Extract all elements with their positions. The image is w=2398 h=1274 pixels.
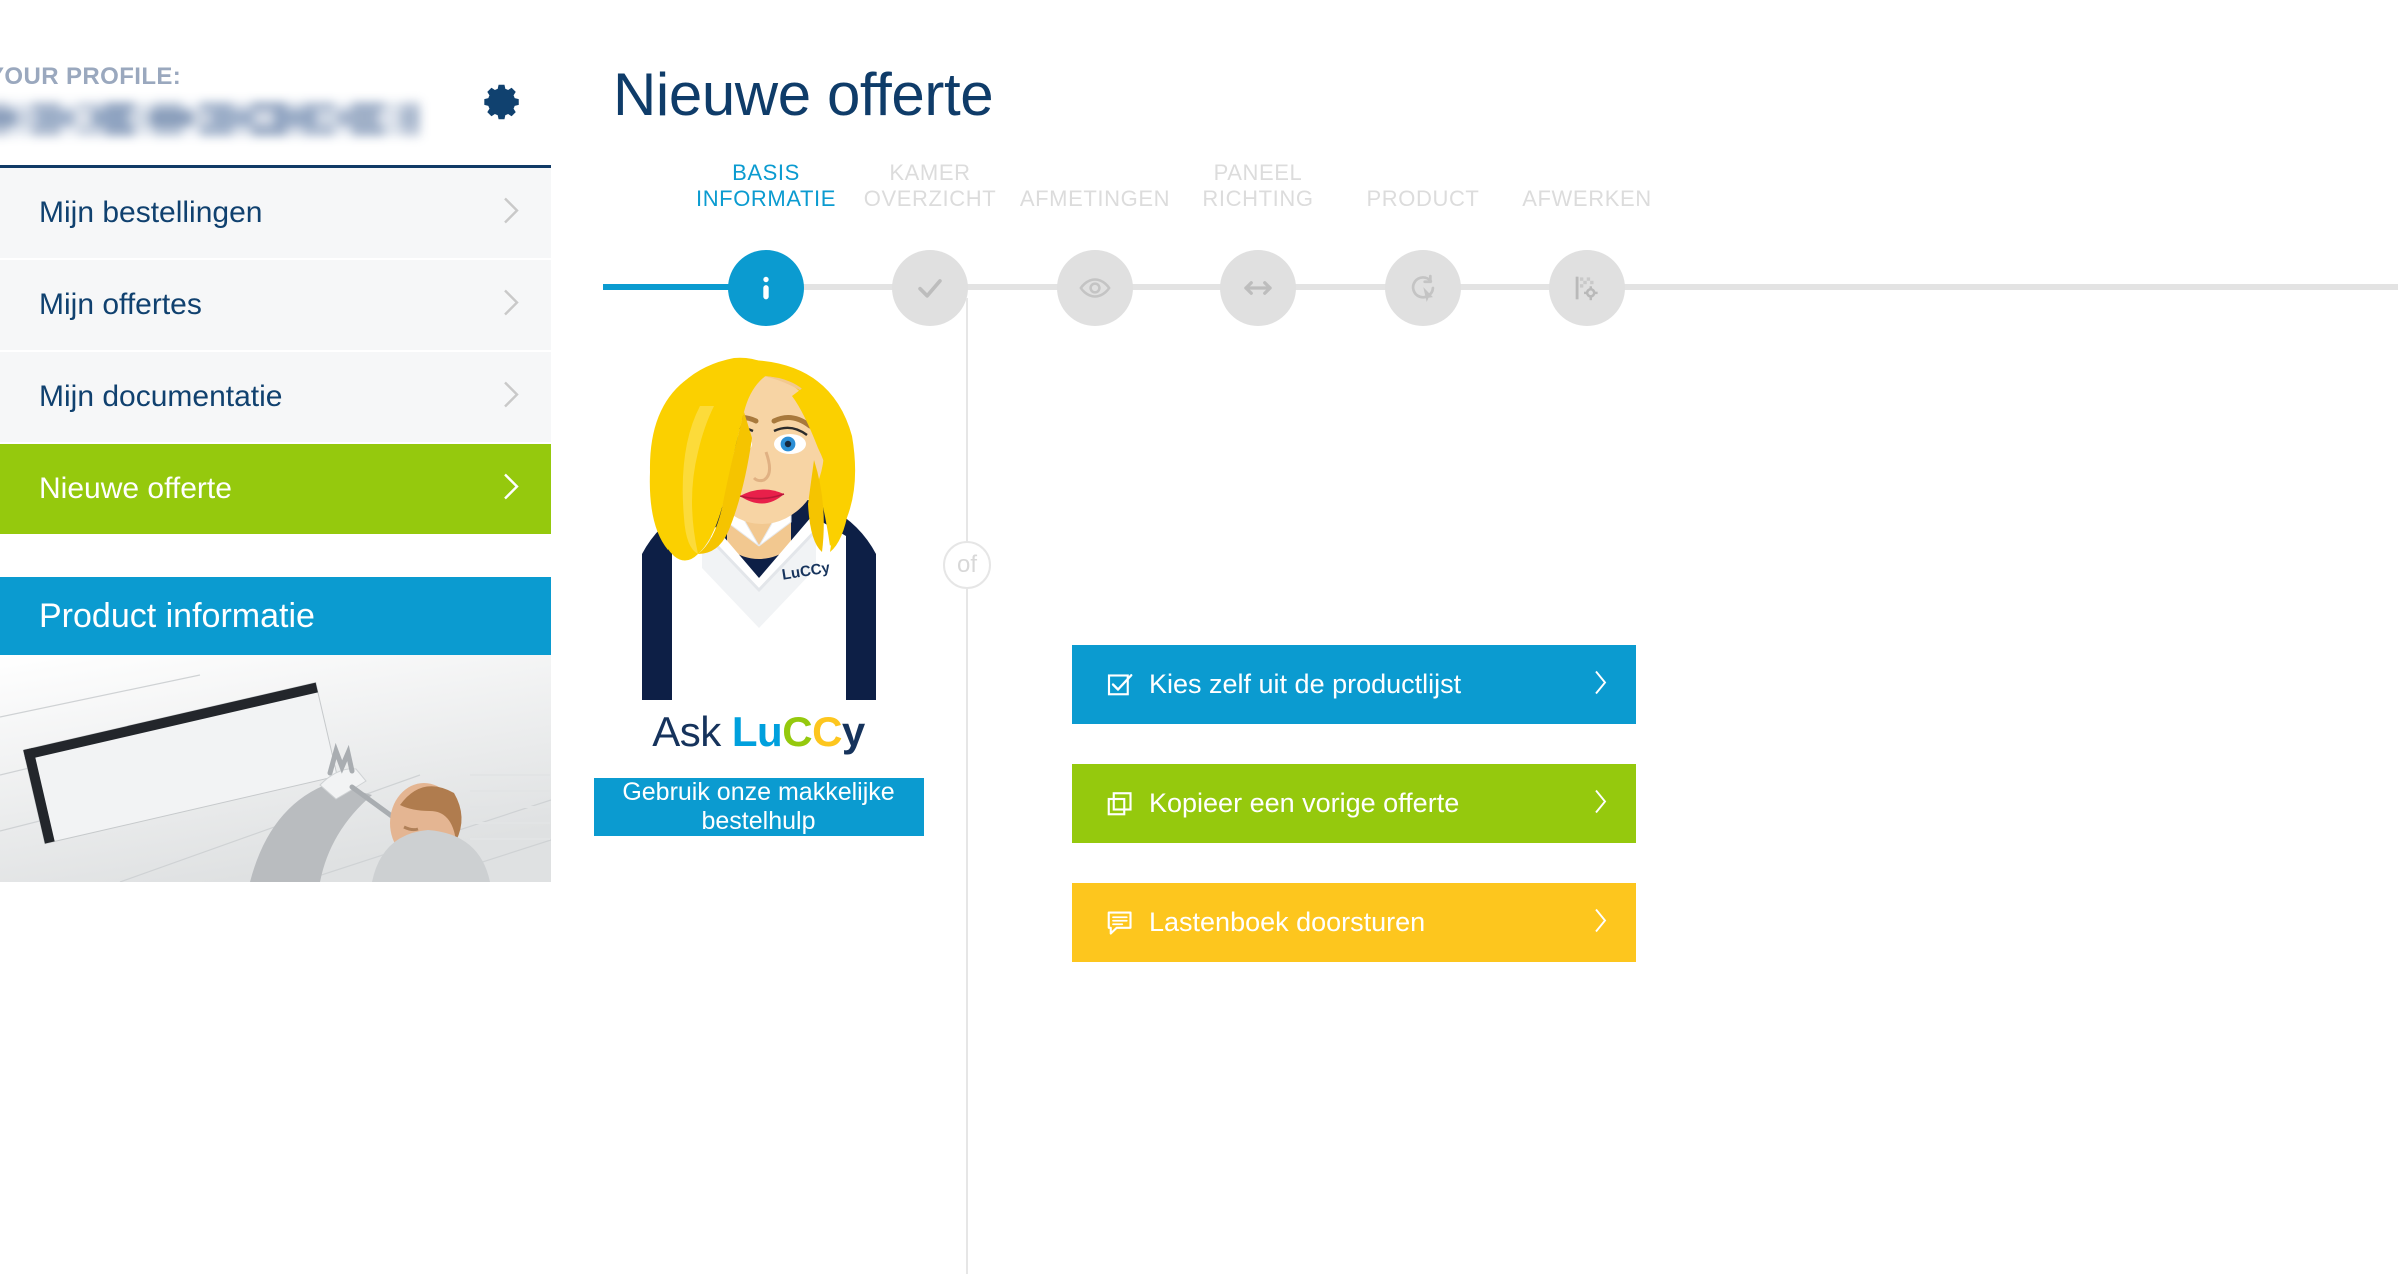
check-icon (913, 271, 947, 305)
luccy-wordmark: Ask LuCCy (551, 708, 966, 756)
step-afmetingen[interactable] (1057, 250, 1133, 326)
sidebar-item-label: Mijn offertes (39, 288, 202, 322)
step-product[interactable] (1385, 250, 1461, 326)
gebruik-bestelhulp-button[interactable]: Gebruik onze makkelijke bestelhulp (594, 778, 924, 836)
cursor-rotate-icon (1406, 271, 1440, 305)
arrows-horizontal-icon (1240, 270, 1276, 306)
luccy-avatar-illustration: LuCCy (594, 340, 924, 700)
step-label-afwerken: AFWERKEN (1457, 186, 1717, 212)
chevron-right-icon (499, 471, 525, 508)
app-root: YOUR PROFILE: Mijn bestellingen Mijn off… (0, 0, 2398, 1274)
wordmark-y: y (842, 708, 865, 755)
wordmark-c2: C (812, 708, 842, 755)
sidebar-item-label: Nieuwe offerte (39, 472, 232, 506)
eye-icon (1078, 271, 1112, 305)
profile-label: YOUR PROFILE: (0, 63, 181, 91)
wordmark-c1: C (782, 708, 812, 755)
gear-icon[interactable] (479, 78, 527, 126)
chevron-right-icon (499, 287, 525, 324)
page-title: Nieuwe offerte (613, 60, 993, 129)
sidebar-item-label: Mijn bestellingen (39, 196, 262, 230)
step-kamer-overzicht[interactable] (892, 250, 968, 326)
profile-block: YOUR PROFILE: (0, 0, 551, 165)
step-afwerken[interactable] (1549, 250, 1625, 326)
checkbox-checked-icon (1105, 670, 1135, 700)
sidebar-item-label: Mijn documentatie (39, 380, 282, 414)
chevron-right-icon (1590, 667, 1612, 702)
finish-flag-gear-icon (1570, 271, 1604, 305)
product-info-header[interactable]: Product informatie (0, 577, 551, 655)
chevron-right-icon (499, 195, 525, 232)
sidebar-item-mijn-offertes[interactable]: Mijn offertes (0, 260, 551, 352)
sidebar-item-mijn-bestellingen[interactable]: Mijn bestellingen (0, 168, 551, 260)
lastenboek-doorsturen-button[interactable]: Lastenboek doorsturen (1072, 883, 1636, 962)
profile-name-redacted (0, 102, 420, 136)
kopieer-vorige-offerte-button[interactable]: Kopieer een vorige offerte (1072, 764, 1636, 843)
sidebar: YOUR PROFILE: Mijn bestellingen Mijn off… (0, 0, 551, 1274)
progress-stepper: BASIS INFORMATIE KAMER OVERZICHT AFMETIN… (551, 222, 2398, 352)
sidebar-nav: Mijn bestellingen Mijn offertes Mijn doc… (0, 165, 551, 536)
sidebar-item-nieuwe-offerte[interactable]: Nieuwe offerte (0, 444, 551, 536)
stepper-track (603, 284, 2398, 290)
main-content: Nieuwe offerte BASIS INFORMATIE KAMER OV… (551, 0, 2398, 1274)
copy-icon (1105, 789, 1135, 819)
chevron-right-icon (1590, 905, 1612, 940)
product-info-image (0, 655, 551, 882)
column-divider (966, 298, 968, 1274)
wordmark-ask: Ask (652, 708, 732, 755)
chevron-right-icon (499, 379, 525, 416)
chevron-right-icon (1590, 786, 1612, 821)
action-label: Kopieer een vorige offerte (1149, 788, 1459, 819)
wordmark-lu: Lu (732, 708, 782, 755)
info-icon (749, 271, 783, 305)
action-button-group: Kies zelf uit de productlijst Kopieer ee… (1072, 645, 1636, 1002)
speech-bubble-lines-icon (1105, 908, 1135, 938)
product-info-panel: Product informatie (0, 577, 551, 882)
step-basis-informatie[interactable] (728, 250, 804, 326)
sidebar-item-mijn-documentatie[interactable]: Mijn documentatie (0, 352, 551, 444)
step-paneel-richting[interactable] (1220, 250, 1296, 326)
kies-zelf-productlijst-button[interactable]: Kies zelf uit de productlijst (1072, 645, 1636, 724)
product-info-title: Product informatie (39, 597, 315, 636)
action-label: Kies zelf uit de productlijst (1149, 669, 1461, 700)
luccy-assistant-column: LuCCy Ask LuCCy Gebruik onze makkelijke … (551, 340, 966, 836)
action-label: Lastenboek doorsturen (1149, 907, 1425, 938)
